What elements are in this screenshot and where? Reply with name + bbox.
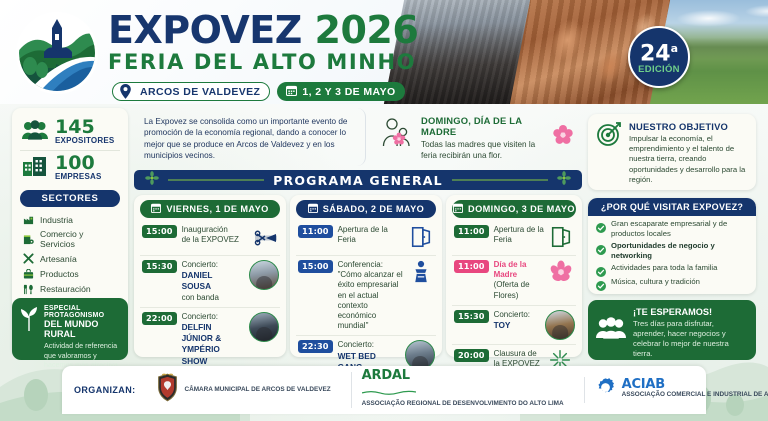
stat-expositores-label: EXPOSITORES (55, 136, 114, 145)
event-time-badge: 15:00 (142, 225, 177, 238)
header-pills: ARCOS DE VALDEVEZ 1, 2 Y 3 DE MAYO (112, 82, 405, 101)
why-item-text: Oportunidades de negocio y networking (611, 241, 748, 260)
organizer-aciab[interactable]: ACIAB ASSOCIAÇÃO COMERCIAL E INDUSTRIAL … (584, 377, 768, 403)
stat-expositores: 145 EXPOSITORES (20, 115, 120, 150)
event-line2: (Oferta de Flores) (494, 280, 530, 299)
stat-empresas-label: EMPRESAS (55, 172, 102, 181)
sector-label: Industria (40, 215, 73, 225)
organizers-label: ORGANIZAN: (74, 385, 136, 395)
sector-label: Productos (40, 269, 79, 279)
location-pill: ARCOS DE VALDEVEZ (112, 82, 270, 101)
why-item-text: Actividades para toda la familia (611, 263, 717, 273)
event-text: Inauguración de la EXPOVEZ (182, 225, 248, 245)
why-item: Oportunidades de negocio y networking (588, 238, 756, 260)
event-time-badge: 11:00 (298, 225, 333, 238)
event-text: Apertura de la Feria (338, 225, 404, 245)
event-row[interactable]: 15:00 Conferencia: "Cómo alcanzar el éxi… (296, 255, 436, 335)
leaf-ornament-icon (557, 171, 571, 190)
organizer-camara-municipal[interactable]: CÂMARA MUNICIPAL DE ARCOS DE VALDEVEZ (146, 373, 341, 407)
mothers-day-block: DOMINGO, DÍA DE LA MADRE Todas las madre… (372, 108, 582, 166)
event-text: Concierto: TOY (494, 310, 540, 331)
why-item-text: Gran escaparate empresarial y de product… (611, 219, 748, 238)
edition-label: EDICIÓN (638, 64, 680, 75)
edition-number-wrap: 24a (640, 39, 678, 64)
mothers-day-text: Todas las madres que visiten la feria re… (421, 140, 545, 161)
mother-child-icon (380, 115, 414, 154)
podium-speaker-icon (409, 260, 435, 286)
banner-rule-right (452, 179, 548, 181)
event-line1: Apertura de la Feria (494, 225, 544, 244)
buildings-icon (22, 156, 48, 181)
sector-label: Comercio y Servicios (40, 229, 120, 249)
shop-icon (23, 234, 34, 245)
why-item: Gran escaparate empresarial y de product… (588, 216, 756, 238)
artist-photo-toy (545, 310, 575, 340)
why-item: Música, cultura y tradición (588, 274, 756, 288)
date-pill-label: 1, 2 Y 3 DE MAYO (302, 86, 395, 98)
flower-icon (552, 124, 574, 151)
leaf-ornament-icon (145, 171, 159, 190)
objective-text: Impulsar la economía, el emprendimiento … (629, 134, 748, 185)
day-header-label: SÁBADO, 2 DE MAYO (323, 204, 424, 214)
sectors-title: SECTORES (20, 190, 120, 207)
objective-heading: NUESTRO OBJETIVO (629, 121, 748, 132)
event-line1: Concierto: (338, 340, 374, 349)
rural-highlight-card: ESPECIAL PROTAGONISMO DEL MUNDO RURAL Ac… (12, 298, 128, 360)
check-circle-icon (596, 220, 606, 230)
sector-item-comercio[interactable]: Comercio y Servicios (20, 227, 120, 251)
sector-item-restauracion[interactable]: Restauración (20, 282, 120, 297)
event-time-badge: 11:00 (454, 225, 489, 238)
calendar-icon (453, 203, 463, 215)
ardal-wave-icon (362, 390, 416, 395)
day-column-saturday: SÁBADO, 2 DE MAYO 11:00 Apertura de la F… (290, 195, 442, 357)
why-item-bold: Oportunidades de negocio y networking (611, 241, 715, 260)
organizer-brand: ARDAL (362, 368, 410, 383)
calendar-icon (308, 203, 318, 215)
sector-item-artesania[interactable]: Artesanía (20, 251, 120, 266)
page-title: EXPOVEZ 2026 (108, 10, 418, 50)
organizer-brand: ACIAB (622, 377, 665, 392)
flower-icon (549, 260, 575, 286)
basket-icon (23, 269, 34, 280)
event-line2: de la EXPOVEZ (182, 235, 239, 244)
organizer-subtitle: ASSOCIAÇÃO COMERCIAL E INDUSTRIAL DE ARC… (622, 391, 768, 399)
event-text: Día de la Madre (Oferta de Flores) (494, 260, 544, 301)
intro-text: La Expovez se consolida como un importan… (144, 116, 355, 161)
check-circle-icon (596, 264, 606, 274)
event-row[interactable]: 15:30 Concierto: TOY (452, 305, 576, 344)
target-icon (596, 121, 622, 183)
event-row[interactable]: 11:00 Día de la Madre (Oferta de Flores) (452, 255, 576, 305)
event-line1: Concierto: (494, 310, 530, 319)
check-circle-icon (596, 278, 606, 288)
rural-heading-large: DEL MUNDO RURAL (44, 319, 121, 339)
coat-of-arms-icon (156, 373, 179, 407)
artist-photo-daniel-sousa (249, 260, 279, 290)
event-time-badge: 15:30 (454, 310, 489, 323)
check-circle-icon (596, 242, 606, 252)
ardal-logo-icon: ARDAL (362, 372, 564, 382)
header-subtitle: FERIA DEL ALTO MINHO (108, 50, 418, 74)
event-line2: "Cómo alcanzar el éxito empresarial en e… (338, 270, 403, 330)
day-column-friday: VIERNES, 1 DE MAYO 15:00 Inauguración de… (134, 195, 286, 357)
event-time-badge: 15:00 (298, 260, 333, 273)
stat-empresas-number: 100 (55, 155, 102, 172)
day-header-label: VIERNES, 1 DE MAYO (166, 204, 268, 214)
expovez-landscape-logo (14, 10, 100, 96)
day-header-sunday: DOMINGO, 3 DE MAYO (452, 200, 576, 218)
sector-label: Restauración (40, 284, 91, 294)
event-line3: con banda (182, 293, 219, 302)
factory-icon (23, 214, 34, 225)
open-door-icon (549, 225, 575, 251)
cutlery-icon (23, 284, 34, 295)
open-door-icon (409, 225, 435, 251)
flower-icon (393, 133, 405, 145)
event-time-badge: 22:00 (142, 312, 177, 325)
event-time-badge: 11:00 (454, 260, 489, 273)
event-row[interactable]: 11:00 Apertura de la Feria (296, 221, 436, 255)
event-row[interactable]: 15:30 Concierto: DANIEL SOUSA con banda (140, 255, 280, 307)
event-text: Apertura de la Feria (494, 225, 544, 245)
aciab-gear-icon (595, 377, 616, 403)
event-line1: Apertura de la Feria (338, 225, 388, 244)
event-text: Concierto: DELFIN JÚNIOR & YMPÉRIO SHOW (182, 312, 244, 367)
header-photo-strip (408, 0, 768, 104)
organizer-subtitle: ASSOCIAÇÃO REGIONAL DE DESENVOLVIMENTO D… (362, 400, 564, 408)
people-group-icon (22, 120, 48, 145)
why-item-text: Música, cultura y tradición (611, 277, 700, 287)
why-visit-heading: ¿POR QUÉ VISITAR EXPOVEZ? (588, 198, 756, 216)
event-line2: TOY (494, 320, 511, 330)
organizer-ardal[interactable]: ARDAL ASSOCIAÇÃO REGIONAL DE DESENVOLVIM… (351, 372, 574, 409)
program-banner: PROGRAMA GENERAL (134, 170, 582, 190)
ribbon-cut-icon (253, 225, 279, 251)
artist-photo-delfin-junior (249, 312, 279, 342)
day-header-friday: VIERNES, 1 DE MAYO (140, 200, 280, 218)
objective-card: NUESTRO OBJETIVO Impulsar la economía, e… (588, 114, 756, 190)
stat-expositores-number: 145 (55, 119, 114, 136)
organizer-name: CÂMARA MUNICIPAL DE ARCOS DE VALDEVEZ (185, 386, 331, 394)
program-banner-title: PROGRAMA GENERAL (273, 173, 443, 188)
location-pill-label: ARCOS DE VALDEVEZ (140, 86, 260, 98)
sector-item-productos[interactable]: Productos (20, 267, 120, 282)
infographic-page: EXPOVEZ 2026 FERIA DEL ALTO MINHO ARCOS … (0, 0, 768, 421)
event-line1: Concierto: (182, 260, 218, 269)
why-visit-card: ¿POR QUÉ VISITAR EXPOVEZ? Gran escaparat… (588, 198, 756, 294)
event-line1: Conferencia: (338, 260, 383, 269)
banner-rule-left (168, 179, 264, 181)
event-time-badge: 20:00 (454, 349, 489, 362)
sector-item-industria[interactable]: Industria (20, 212, 120, 227)
header: EXPOVEZ 2026 FERIA DEL ALTO MINHO ARCOS … (0, 0, 768, 104)
edition-badge: 24a EDICIÓN (628, 26, 690, 88)
day-header-saturday: SÁBADO, 2 DE MAYO (296, 200, 436, 218)
edition-ordinal: a (671, 42, 678, 55)
calendar-icon (286, 85, 297, 99)
calendar-icon (151, 203, 161, 215)
aciab-brand-wrap: ACIAB (622, 381, 768, 391)
why-item: Actividades para toda la familia (588, 260, 756, 274)
sector-label: Artesanía (40, 254, 77, 264)
edition-number: 24 (640, 41, 671, 66)
title-year: 2026 (315, 8, 419, 52)
day-column-sunday: DOMINGO, 3 DE MAYO 11:00 Apertura de la … (446, 195, 582, 357)
day-header-label: DOMINGO, 3 DE MAYO (468, 204, 575, 214)
crafts-tools-icon (23, 253, 34, 264)
intro-block: La Expovez se consolida como un importan… (134, 108, 366, 166)
rural-heading-small: ESPECIAL PROTAGONISMO (44, 305, 121, 319)
stat-empresas: 100 EMPRESAS (20, 150, 120, 186)
event-row[interactable]: 11:00 Apertura de la Feria (452, 221, 576, 255)
event-time-badge: 15:30 (142, 260, 177, 273)
waiting-heading: ¡TE ESPERAMOS! (633, 307, 748, 317)
header-title-block: EXPOVEZ 2026 FERIA DEL ALTO MINHO (108, 10, 418, 74)
event-time-badge: 22:30 (298, 340, 333, 353)
waiting-text: Tres días para disfrutar, aprender, hace… (633, 319, 748, 359)
event-line1: Día de la Madre (494, 260, 527, 279)
leaf-icon (20, 305, 38, 354)
event-text: Conferencia: "Cómo alcanzar el éxito emp… (338, 260, 404, 331)
event-row[interactable]: 22:00 Concierto: DELFIN JÚNIOR & YMPÉRIO… (140, 307, 280, 371)
event-line2: DELFIN JÚNIOR & YMPÉRIO SHOW (182, 322, 222, 366)
event-line2: DANIEL SOUSA (182, 270, 213, 291)
event-row[interactable]: 15:00 Inauguración de la EXPOVEZ (140, 221, 280, 255)
event-text: Concierto: DANIEL SOUSA con banda (182, 260, 244, 303)
date-pill: 1, 2 Y 3 DE MAYO (277, 82, 404, 101)
event-line1: Concierto: (182, 312, 218, 321)
event-line1: Inauguración (182, 225, 228, 234)
mothers-day-heading: DOMINGO, DÍA DE LA MADRE (421, 115, 545, 137)
people-group-icon (596, 317, 626, 344)
title-expovez: EXPOVEZ (108, 8, 302, 52)
map-pin-icon (119, 84, 132, 99)
footer-organizers: ORGANIZAN: CÂMARA MUNICIPAL DE ARCOS DE … (62, 366, 706, 414)
waiting-card: ¡TE ESPERAMOS! Tres días para disfrutar,… (588, 300, 756, 360)
